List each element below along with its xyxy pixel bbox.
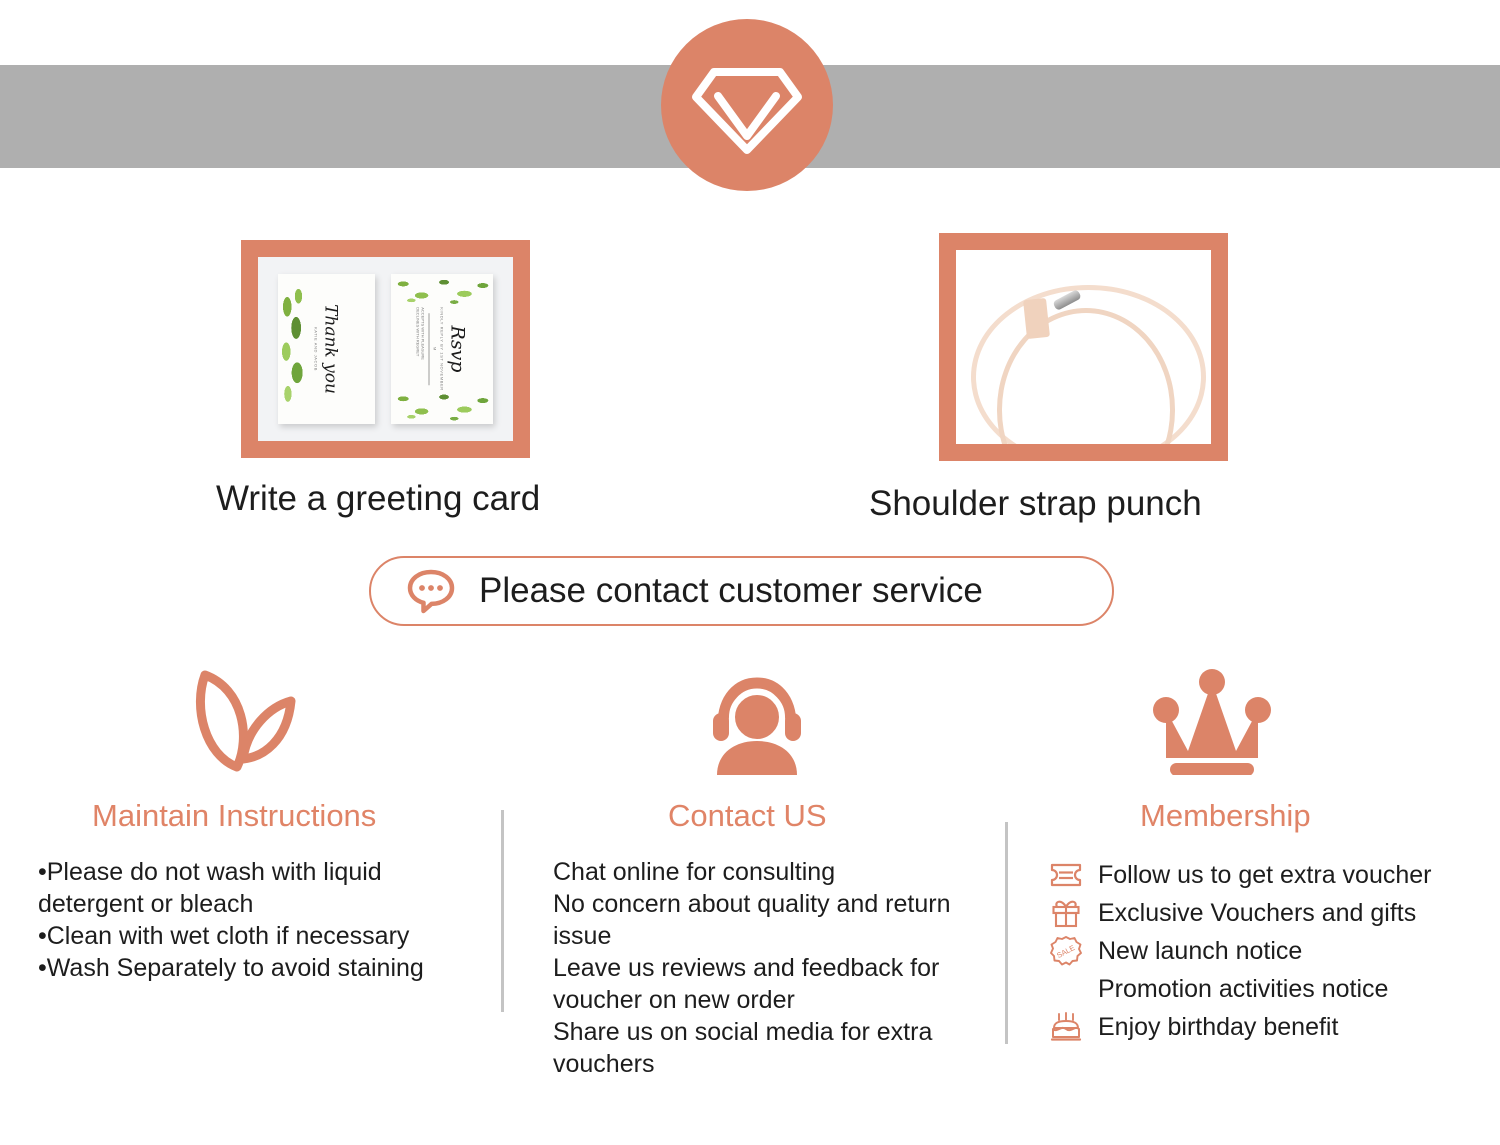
contact-body: Chat online for consulting No concern ab… <box>513 856 978 1080</box>
foliage-decoration-bottom-icon <box>391 388 493 424</box>
greeting-card-caption: Write a greeting card <box>216 479 540 519</box>
membership-item-promotion-label: Promotion activities notice <box>1098 973 1388 1005</box>
foliage-decoration-icon <box>278 283 311 416</box>
contact-line-2: No concern about quality and return issu… <box>553 888 978 952</box>
membership-item-birthday: Enjoy birthday benefit <box>1030 1008 1490 1046</box>
rsvp-option-accept: ACCEPTS WITH PLEASURE <box>420 307 425 391</box>
membership-heading: Membership <box>1030 798 1490 834</box>
crown-icon-wrap <box>1030 660 1490 780</box>
thank-you-text: Thank you <box>320 304 340 394</box>
infographic-page: value-added Services After Sale Thank yo… <box>0 0 1500 1145</box>
maintain-body: •Please do not wash with liquid detergen… <box>20 856 480 984</box>
greeting-card-photo-frame: Thank you KATIE AND JACOB Rsvp KINDLY RE… <box>241 240 530 458</box>
bottom-columns: Maintain Instructions •Please do not was… <box>0 660 1500 1145</box>
membership-item-gifts: Exclusive Vouchers and gifts <box>1030 894 1490 932</box>
contact-customer-service-button[interactable]: Please contact customer service <box>369 556 1114 626</box>
thank-you-card: Thank you KATIE AND JACOB <box>278 274 375 425</box>
header-title-right: After Sale <box>910 0 1086 103</box>
rsvp-write-line <box>428 313 429 385</box>
membership-item-new-launch-label: New launch notice <box>1098 935 1302 967</box>
rsvp-option-decline: DECLINES WITH REGRET <box>415 307 420 391</box>
shoulder-strap-photo-frame <box>939 233 1228 461</box>
membership-item-birthday-label: Enjoy birthday benefit <box>1098 1011 1338 1043</box>
membership-body: Follow us to get extra voucher Exclusive… <box>1030 856 1490 1046</box>
sale-badge-icon: SALE <box>1048 936 1084 966</box>
maintain-line-2: •Clean with wet cloth if necessary <box>38 920 480 952</box>
rsvp-text: Rsvp <box>446 307 468 391</box>
contact-line-4: Share us on social media for extra vouch… <box>553 1016 978 1080</box>
gift-box-icon <box>1048 898 1084 928</box>
svg-text:SALE: SALE <box>1055 943 1076 960</box>
greeting-card-photo: Thank you KATIE AND JACOB Rsvp KINDLY RE… <box>258 257 513 441</box>
foliage-decoration-top-icon <box>391 274 493 307</box>
contact-button-label: Please contact customer service <box>479 571 983 611</box>
rsvp-card-text-block: Rsvp KINDLY REPLY BY 1ST NOVEMBER M ACCE… <box>415 307 468 391</box>
membership-item-promotion: Promotion activities notice <box>1030 970 1490 1008</box>
thank-you-card-text-block: Thank you KATIE AND JACOB <box>313 304 340 394</box>
header-title-left: value-added Services <box>163 0 548 103</box>
rsvp-card: Rsvp KINDLY REPLY BY 1ST NOVEMBER M ACCE… <box>391 274 493 425</box>
two-leaves-icon-wrap <box>20 660 480 780</box>
ticket-icon <box>1048 860 1084 890</box>
diamond-v-logo-icon <box>688 50 806 160</box>
birthday-cake-icon <box>1048 1012 1084 1042</box>
shoulder-strap-photo <box>956 250 1211 444</box>
strap-keeper-tab <box>1023 297 1050 338</box>
column-maintain-instructions: Maintain Instructions •Please do not was… <box>20 660 480 984</box>
membership-item-voucher: Follow us to get extra voucher <box>1030 856 1490 894</box>
shoulder-strap-caption: Shoulder strap punch <box>869 484 1202 524</box>
maintain-heading: Maintain Instructions <box>20 798 480 834</box>
membership-item-gifts-label: Exclusive Vouchers and gifts <box>1098 897 1416 929</box>
chat-bubble-icon <box>405 565 457 617</box>
headset-support-agent-icon <box>703 671 811 780</box>
thank-you-subtext: KATIE AND JACOB <box>313 304 318 394</box>
contact-line-1: Chat online for consulting <box>553 856 978 888</box>
column-contact-us: Contact US Chat online for consulting No… <box>513 660 978 1080</box>
column-membership: Membership Follow us to get extra vouche… <box>1030 660 1490 1046</box>
rsvp-name-line: M <box>432 307 437 391</box>
brand-logo-badge <box>661 19 833 191</box>
membership-item-voucher-label: Follow us to get extra voucher <box>1098 859 1432 891</box>
headset-support-agent-icon-wrap <box>513 660 978 780</box>
maintain-line-1: •Please do not wash with liquid detergen… <box>38 856 480 920</box>
rsvp-subtext: KINDLY REPLY BY 1ST NOVEMBER <box>439 307 444 391</box>
maintain-line-3: •Wash Separately to avoid staining <box>38 952 480 984</box>
crown-icon <box>1150 665 1274 780</box>
contact-heading: Contact US <box>513 798 978 834</box>
two-leaves-icon <box>185 663 303 780</box>
membership-item-new-launch: SALE New launch notice <box>1030 932 1490 970</box>
contact-line-3: Leave us reviews and feedback for vouche… <box>553 952 978 1016</box>
